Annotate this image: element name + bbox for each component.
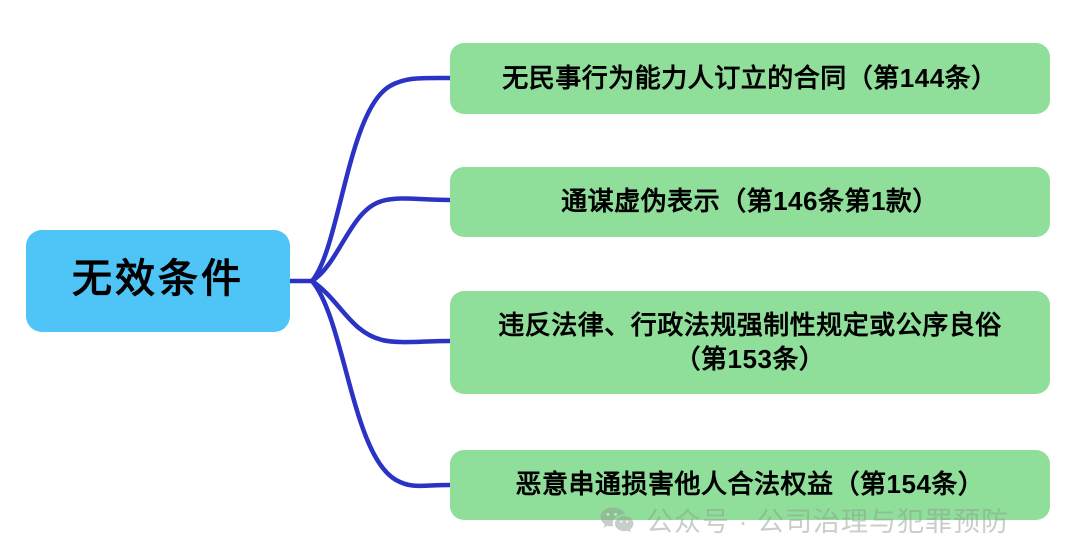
branch-node-label: 通谋虚伪表示（第146条第1款） — [466, 185, 1034, 218]
root-node-label: 无效条件 — [72, 254, 244, 305]
branch-node-invalid-condition-3[interactable]: 违反法律、行政法规强制性规定或公序良俗 （第153条） — [450, 291, 1050, 394]
connector-to-branch-0 — [312, 78, 450, 281]
branch-node-invalid-condition-4[interactable]: 恶意串通损害他人合法权益（第154条） — [450, 450, 1050, 520]
connector-to-branch-2 — [312, 281, 450, 342]
branch-node-invalid-condition-1[interactable]: 无民事行为能力人订立的合同（第144条） — [450, 43, 1050, 114]
connector-to-branch-3 — [312, 281, 450, 486]
root-node[interactable]: 无效条件 — [26, 230, 290, 332]
branch-node-label: 违反法律、行政法规强制性规定或公序良俗 （第153条） — [466, 309, 1034, 376]
branch-node-label: 无民事行为能力人订立的合同（第144条） — [466, 62, 1034, 95]
mindmap-canvas: 无效条件 无民事行为能力人订立的合同（第144条） 通谋虚伪表示（第146条第1… — [0, 0, 1080, 557]
branch-node-label: 恶意串通损害他人合法权益（第154条） — [466, 468, 1034, 501]
connector-to-branch-1 — [312, 198, 450, 281]
branch-node-invalid-condition-2[interactable]: 通谋虚伪表示（第146条第1款） — [450, 167, 1050, 237]
